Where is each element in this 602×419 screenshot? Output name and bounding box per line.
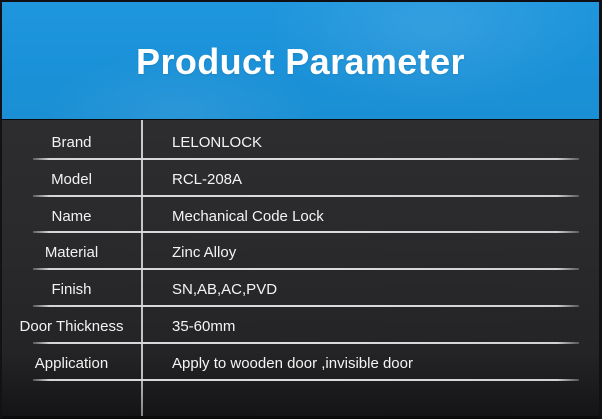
frame-top-edge	[0, 0, 602, 2]
row-divider	[33, 379, 579, 381]
header-banner: Product Parameter	[2, 2, 599, 119]
page-title: Product Parameter	[2, 40, 599, 84]
frame-left-edge	[0, 0, 2, 419]
spec-table-rows: BrandLELONLOCKModelRCL-208ANameMechanica…	[2, 120, 599, 417]
product-parameter-page: Product Parameter BrandLELONLOCKModelRCL…	[0, 0, 602, 419]
spec-table: BrandLELONLOCKModelRCL-208ANameMechanica…	[2, 120, 599, 417]
